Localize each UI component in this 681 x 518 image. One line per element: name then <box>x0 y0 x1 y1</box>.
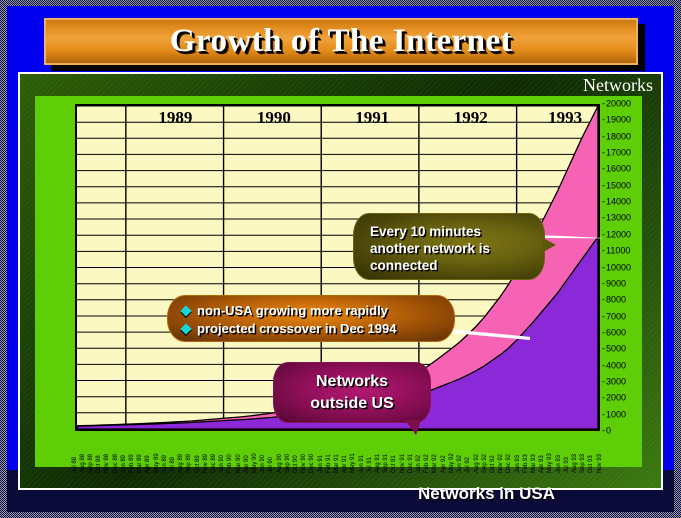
y-axis-tick: -5000 <box>602 345 626 354</box>
y-axis-tick: -1000 <box>602 410 626 419</box>
x-axis-tick: Jul 91 <box>367 457 373 473</box>
x-axis-tick: Aug 88 <box>80 454 86 473</box>
x-axis-tick: Apr 91 <box>342 455 348 473</box>
x-axis-tick: Apr 93 <box>539 455 545 473</box>
x-axis-tick: Dec 90 <box>309 454 315 473</box>
x-axis-tick: Sep 93 <box>580 454 586 473</box>
x-axis-tick: Jul 88 <box>72 457 78 473</box>
callout-outside-tail <box>405 420 421 435</box>
x-axis-tick: Mar 92 <box>432 454 438 473</box>
y-axis-tick: -18000 <box>602 132 631 141</box>
x-axis-tick: Jan 91 <box>318 455 324 473</box>
x-axis-tick: Apr 89 <box>145 455 151 473</box>
x-axis-tick: Jun 93 <box>556 455 562 473</box>
x-axis-tick: Dec 89 <box>211 454 217 473</box>
usa-area-label: Networks in USA <box>418 484 555 504</box>
y-axis-tick: -20000 <box>602 100 631 109</box>
x-axis-tick: Jun 90 <box>260 455 266 473</box>
x-axis-tick: Aug 91 <box>375 454 381 473</box>
x-axis-tick: Jul 89 <box>170 457 176 473</box>
x-axis-tick: Nov 90 <box>301 454 307 473</box>
x-axis-tick: Oct 92 <box>490 455 496 473</box>
y-axis-tick: -17000 <box>602 149 631 158</box>
callout-every-10-minutes[interactable]: Every 10 minutes another network is conn… <box>353 213 545 280</box>
x-axis-tick: Oct 91 <box>391 455 397 473</box>
callout-crossover-bullet2: projected crossover in Dec 1994 <box>197 320 396 338</box>
x-axis-tick: Nov 88 <box>104 454 110 473</box>
y-axis-tick: -0 <box>602 427 611 436</box>
x-axis-tick: Feb 92 <box>424 454 430 473</box>
y-axis-tick: -16000 <box>602 165 631 174</box>
page-title: Growth of The Internet <box>170 23 513 60</box>
x-axis-tick: Aug 89 <box>178 454 184 473</box>
x-axis-tick: Oct 90 <box>293 455 299 473</box>
x-axis-tick: Mar 89 <box>137 454 143 473</box>
diamond-bullet-icon <box>180 305 191 316</box>
x-axis-tick: Sep 92 <box>482 454 488 473</box>
x-axis-tick: Jan 92 <box>416 455 422 473</box>
x-axis-tick: Mar 91 <box>334 454 340 473</box>
y-axis-tick: -3000 <box>602 377 626 386</box>
x-axis-tick: Aug 90 <box>277 454 283 473</box>
x-axis-tick: Feb 93 <box>523 454 529 473</box>
x-axis-tick: Feb 90 <box>227 454 233 473</box>
year-label-1990: 1990 <box>257 108 291 128</box>
callout-minutes-line2: another network is <box>370 240 531 257</box>
year-label-1991: 1991 <box>355 108 389 128</box>
y-axis-tick: -10000 <box>602 263 631 272</box>
callout-outside-line2: outside US <box>282 393 422 415</box>
callout-minutes-tail <box>543 238 556 252</box>
y-axis-tick: -7000 <box>602 312 626 321</box>
x-axis-tick: May 93 <box>547 453 553 473</box>
callout-crossover-row2: projected crossover in Dec 1994 <box>182 320 444 338</box>
x-axis-tick: Apr 92 <box>441 455 447 473</box>
x-axis-tick: Sep 88 <box>88 454 94 473</box>
x-axis-tick: Jun 91 <box>359 455 365 473</box>
x-axis-tick: Sep 91 <box>383 454 389 473</box>
y-axis-tick: -2000 <box>602 394 626 403</box>
y-axis-tick: -9000 <box>602 279 626 288</box>
slide: Growth of The Internet Networks 19891990… <box>0 0 681 518</box>
x-axis-tick: May 89 <box>154 453 160 473</box>
x-axis-tick: Feb 89 <box>129 454 135 473</box>
y-axis-tick: -13000 <box>602 214 631 223</box>
x-axis-tick: May 91 <box>350 453 356 473</box>
x-axis-tick: Apr 90 <box>244 455 250 473</box>
diamond-bullet-icon <box>180 323 191 334</box>
y-axis-tick: -14000 <box>602 198 631 207</box>
x-axis-tick: Jun 89 <box>162 455 168 473</box>
callout-minutes-line1: Every 10 minutes <box>370 223 531 240</box>
x-axis-tick: Jun 92 <box>457 455 463 473</box>
x-axis-tick: Jan 93 <box>515 455 521 473</box>
y-axis-tick: -15000 <box>602 181 631 190</box>
x-axis-tick: Nov 92 <box>498 454 504 473</box>
y-axis-tick: -6000 <box>602 328 626 337</box>
callout-networks-outside-us[interactable]: Networks outside US <box>273 362 431 423</box>
x-axis: Jul 88Aug 88Sep 88Oct 88Nov 88Dec 88Jan … <box>75 433 600 473</box>
x-axis-tick: May 92 <box>449 453 455 473</box>
x-axis-tick: Jul 90 <box>268 457 274 473</box>
x-axis-tick: Jan 90 <box>219 455 225 473</box>
callout-outside-line1: Networks <box>282 371 422 393</box>
x-axis-tick: Sep 90 <box>285 454 291 473</box>
x-axis-tick: Dec 91 <box>408 454 414 473</box>
x-axis-tick: Jan 89 <box>121 455 127 473</box>
y-axis-tick: -8000 <box>602 296 626 305</box>
x-axis-tick: Mar 93 <box>531 454 537 473</box>
x-axis-tick: Oct 88 <box>96 455 102 473</box>
x-axis-tick: Dec 88 <box>113 454 119 473</box>
y-axis-tick: -4000 <box>602 361 626 370</box>
x-axis-tick: Oct 93 <box>588 455 594 473</box>
x-axis-tick: Nov 93 <box>597 454 603 473</box>
chart-frame: Networks 19891990199119921993 -20000-190… <box>18 72 663 490</box>
y-axis-tick: -11000 <box>602 247 630 256</box>
y-axis: -20000-19000-18000-17000-16000-15000-140… <box>602 104 646 431</box>
x-axis-tick: Jul 93 <box>564 457 570 473</box>
x-axis-tick: Sep 89 <box>186 454 192 473</box>
x-axis-tick: Mar 90 <box>236 454 242 473</box>
x-axis-tick: Jul 92 <box>465 457 471 473</box>
x-axis-tick: Feb 91 <box>326 454 332 473</box>
y-axis-tick: -19000 <box>602 116 631 125</box>
year-label-1989: 1989 <box>158 108 192 128</box>
callout-crossover[interactable]: non-USA growing more rapidly projected c… <box>167 295 455 342</box>
callout-minutes-line3: connected <box>370 257 531 274</box>
callout-crossover-bullet1: non-USA growing more rapidly <box>197 302 388 320</box>
x-axis-tick: Dec 92 <box>506 454 512 473</box>
x-axis-tick: Aug 93 <box>572 454 578 473</box>
y-axis-tick: -12000 <box>602 230 631 239</box>
x-axis-tick: Nov 91 <box>400 454 406 473</box>
x-axis-tick: May 90 <box>252 453 258 473</box>
x-axis-tick: Aug 92 <box>474 454 480 473</box>
x-axis-tick: Oct 89 <box>195 455 201 473</box>
title-banner: Growth of The Internet <box>44 18 638 65</box>
legend-title: Networks <box>583 75 653 96</box>
x-axis-tick: Nov 89 <box>203 454 209 473</box>
callout-crossover-row1: non-USA growing more rapidly <box>182 302 444 320</box>
year-label-1993: 1993 <box>548 108 582 128</box>
year-label-1992: 1992 <box>454 108 488 128</box>
